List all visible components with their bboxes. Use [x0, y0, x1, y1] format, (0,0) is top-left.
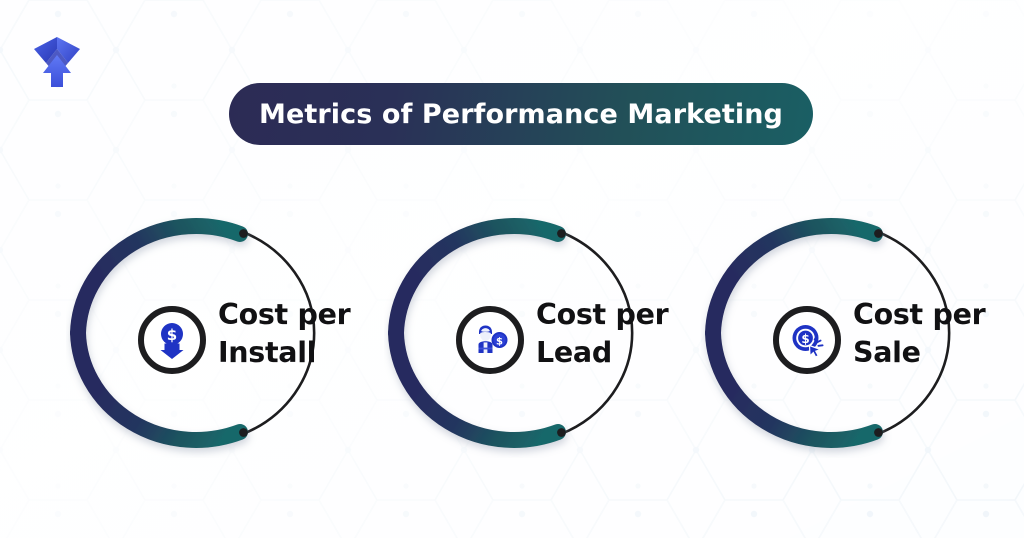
metric-card-cost-per-install[interactable]: $ Cost per Install	[66, 208, 326, 458]
metric-icon-badge[interactable]: $	[138, 306, 206, 374]
dollar-coin-click-cursor-icon: $	[787, 320, 827, 360]
metric-label-line1: Cost per	[536, 298, 668, 331]
svg-text:$: $	[167, 326, 177, 344]
metric-label-line1: Cost per	[218, 298, 350, 331]
metric-label-line2: Sale	[853, 334, 1023, 372]
person-dollar-coin-icon: $	[470, 320, 510, 360]
svg-text:$: $	[496, 336, 503, 347]
metric-label-line2: Lead	[536, 334, 706, 372]
metric-label-line1: Cost per	[853, 298, 985, 331]
metric-label: Cost per Lead	[536, 296, 706, 372]
page-title: Metrics of Performance Marketing	[259, 99, 783, 130]
metric-label: Cost per Install	[218, 296, 388, 372]
metric-label: Cost per Sale	[853, 296, 1023, 372]
metric-icon-badge[interactable]: $	[456, 306, 524, 374]
metric-icon-badge[interactable]: $	[773, 306, 841, 374]
metric-card-cost-per-sale[interactable]: $ Cost per Sale	[701, 208, 961, 458]
page-title-banner: Metrics of Performance Marketing	[229, 83, 813, 145]
svg-text:$: $	[801, 332, 809, 346]
metric-label-line2: Install	[218, 334, 388, 372]
infographic-canvas: Metrics of Performance Marketing	[0, 0, 1024, 538]
dollar-coin-down-arrow-icon: $	[152, 320, 192, 360]
diamond-arrow-logo-icon	[30, 33, 84, 89]
metric-card-cost-per-lead[interactable]: $ Cost per Lead	[384, 208, 644, 458]
